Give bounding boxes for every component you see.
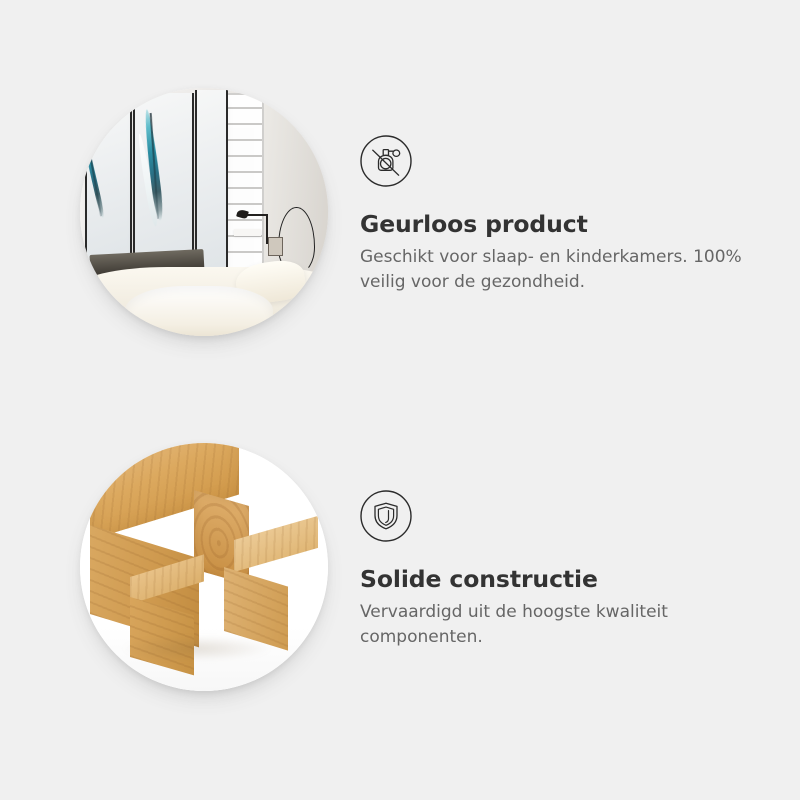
- no-perfume-icon: [360, 135, 412, 187]
- feature-title: Solide constructie: [360, 565, 598, 593]
- shield-icon: [360, 490, 412, 542]
- circular-photo-frame: [80, 443, 328, 691]
- feature-title: Geurloos product: [360, 210, 588, 238]
- feature-row-scent-free: Geurloos product Geschikt voor slaap- en…: [0, 33, 800, 393]
- feature-row-solid-construction: Solide constructie Vervaardigd uit de ho…: [0, 388, 800, 748]
- feature-description: Vervaardigd uit de hoogste kwaliteit com…: [360, 600, 746, 650]
- circular-photo-frame: [80, 88, 328, 336]
- feature-image-solid-construction: [80, 443, 328, 691]
- bedroom-feather-wall-art-photo: [80, 88, 328, 336]
- feature-description: Geschikt voor slaap- en kinderkamers. 10…: [360, 245, 746, 295]
- feature-image-scent-free: [80, 88, 328, 336]
- wooden-blocks-photo: [80, 443, 328, 691]
- product-features-page: Geurloos product Geschikt voor slaap- en…: [0, 0, 800, 800]
